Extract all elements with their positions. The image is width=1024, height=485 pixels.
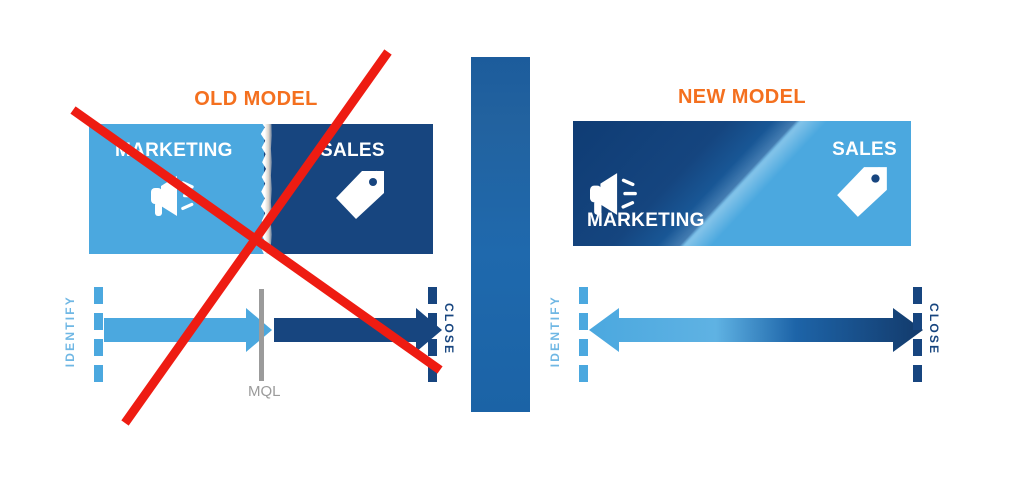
old-model-title: OLD MODEL	[128, 88, 384, 111]
old-model-funnel: IDENTIFY MQL CLOSE	[60, 275, 460, 410]
price-tag-icon	[332, 169, 388, 226]
center-divider-bar	[471, 57, 530, 412]
old-sales-label: SALES	[320, 140, 385, 162]
mql-label: MQL	[248, 383, 281, 400]
mql-divider	[259, 289, 264, 381]
new-model-funnel: IDENTIFY CLOSE	[545, 275, 945, 410]
old-close-label: CLOSE	[442, 303, 456, 355]
new-model-title: NEW MODEL	[614, 86, 870, 109]
megaphone-icon	[585, 169, 645, 224]
megaphone-icon	[147, 172, 203, 225]
new-double-arrow	[545, 275, 945, 410]
price-tag-icon	[833, 165, 891, 224]
old-sales-arrow	[274, 308, 442, 352]
old-model-banner: MARKETING SALES	[89, 124, 433, 254]
old-close-dashed-line	[428, 287, 437, 383]
new-close-dashed-line	[913, 287, 922, 383]
old-marketing-arrow	[104, 308, 272, 352]
new-sales-label: SALES	[832, 139, 897, 161]
new-close-label: CLOSE	[927, 303, 941, 355]
old-marketing-label: MARKETING	[115, 140, 233, 162]
diagram-canvas: OLD MODEL MARKETING SALES	[0, 0, 1024, 485]
new-model-banner: SALES MARKETING	[573, 121, 911, 246]
